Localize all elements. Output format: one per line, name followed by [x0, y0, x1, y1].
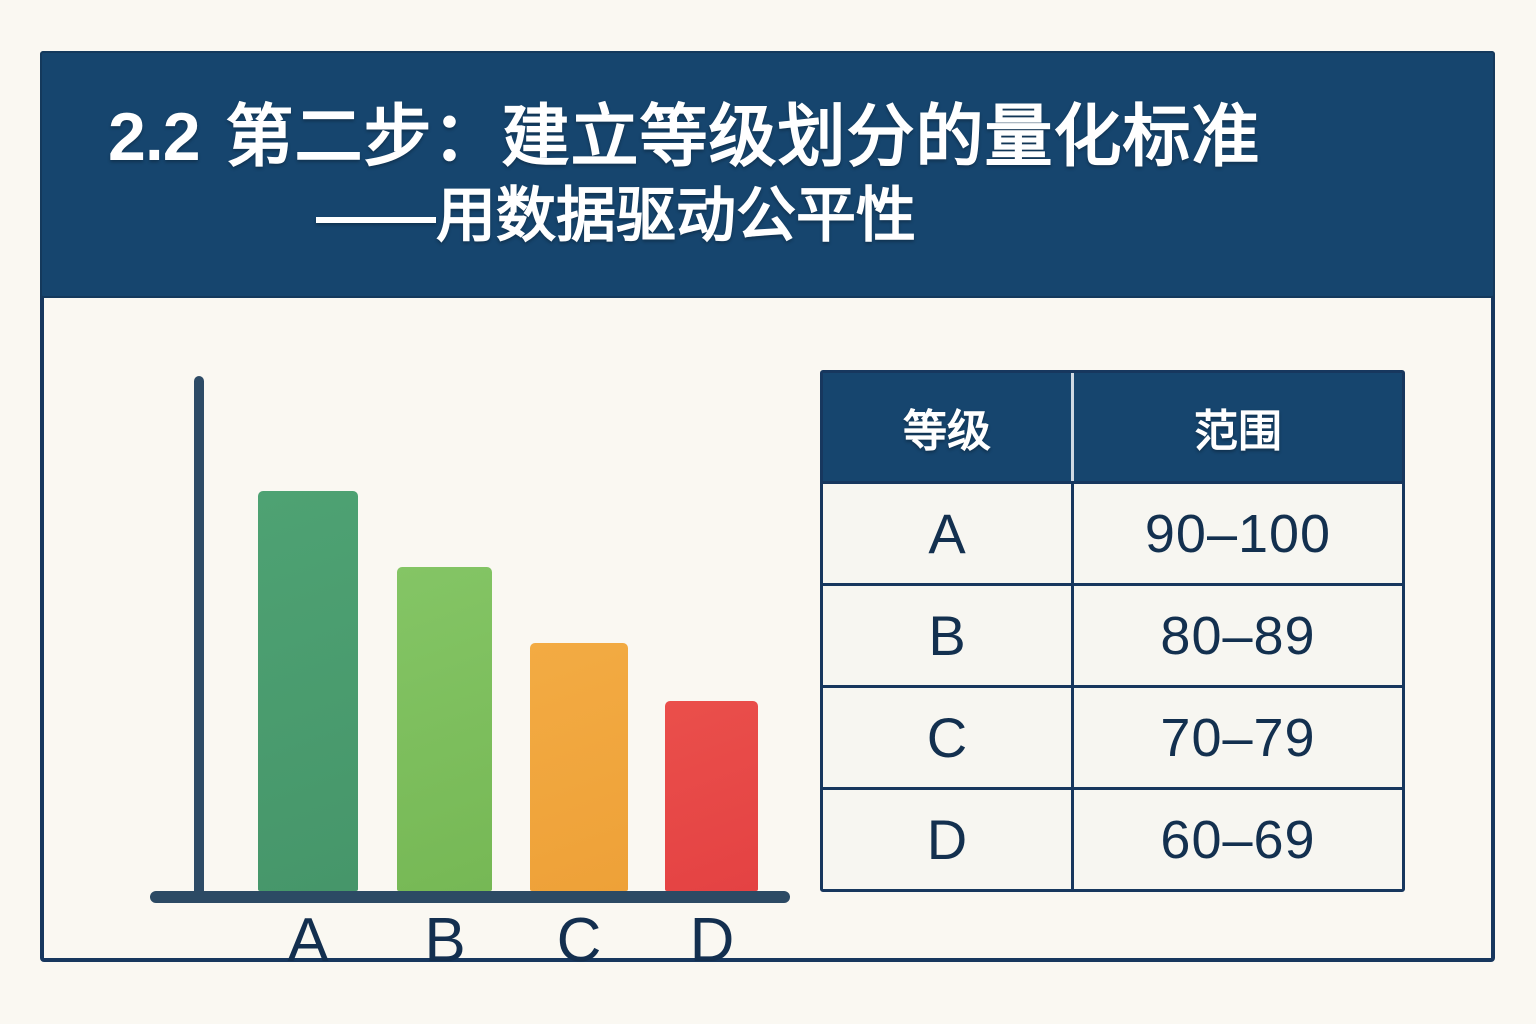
table-cell-grade: C	[823, 688, 1071, 787]
table-header-grade: 等级	[823, 373, 1071, 481]
header-band: 2.2第二步：建立等级划分的量化标准 ——用数据驱动公平性	[40, 51, 1495, 298]
page-title-main: 第二步：建立等级划分的量化标准	[226, 99, 1261, 175]
chart-tick-label-b: B	[405, 910, 485, 972]
table-row: B 80–89	[823, 583, 1402, 685]
table-cell-range: 70–79	[1071, 688, 1402, 787]
content-area: A B C D 等级 范围 A 90–100 B 80–89 C 70–	[40, 298, 1495, 962]
bar-c	[530, 643, 628, 891]
chart-tick-label-a: A	[268, 910, 348, 972]
bar-a	[258, 491, 358, 891]
title-block: 2.2第二步：建立等级划分的量化标准 ——用数据驱动公平性	[42, 53, 1493, 296]
table-cell-grade: D	[823, 790, 1071, 889]
chart-bars	[140, 358, 840, 903]
table-row: A 90–100	[823, 481, 1402, 583]
table-header-row: 等级 范围	[823, 373, 1402, 481]
bar-b	[397, 567, 492, 891]
table-row: D 60–69	[823, 787, 1402, 889]
table-cell-range: 60–69	[1071, 790, 1402, 889]
page-subtitle: ——用数据驱动公平性	[108, 184, 1493, 247]
section-number: 2.2	[108, 99, 200, 175]
chart-tick-labels: A B C D	[140, 910, 840, 990]
page-title-line-1: 2.2第二步：建立等级划分的量化标准	[108, 102, 1493, 173]
table-header-range: 范围	[1071, 373, 1402, 481]
grade-range-table: 等级 范围 A 90–100 B 80–89 C 70–79 D 60–69	[820, 370, 1405, 892]
table-cell-range: 80–89	[1071, 586, 1402, 685]
table-cell-range: 90–100	[1071, 484, 1402, 583]
chart-tick-label-c: C	[539, 910, 619, 972]
bar-d	[665, 701, 758, 891]
table-cell-grade: A	[823, 484, 1071, 583]
table-row: C 70–79	[823, 685, 1402, 787]
table-cell-grade: B	[823, 586, 1071, 685]
slide-root: 2.2第二步：建立等级划分的量化标准 ——用数据驱动公平性 A B C D	[0, 0, 1536, 1024]
chart-tick-label-d: D	[672, 910, 752, 972]
grade-distribution-chart: A B C D	[140, 358, 840, 958]
